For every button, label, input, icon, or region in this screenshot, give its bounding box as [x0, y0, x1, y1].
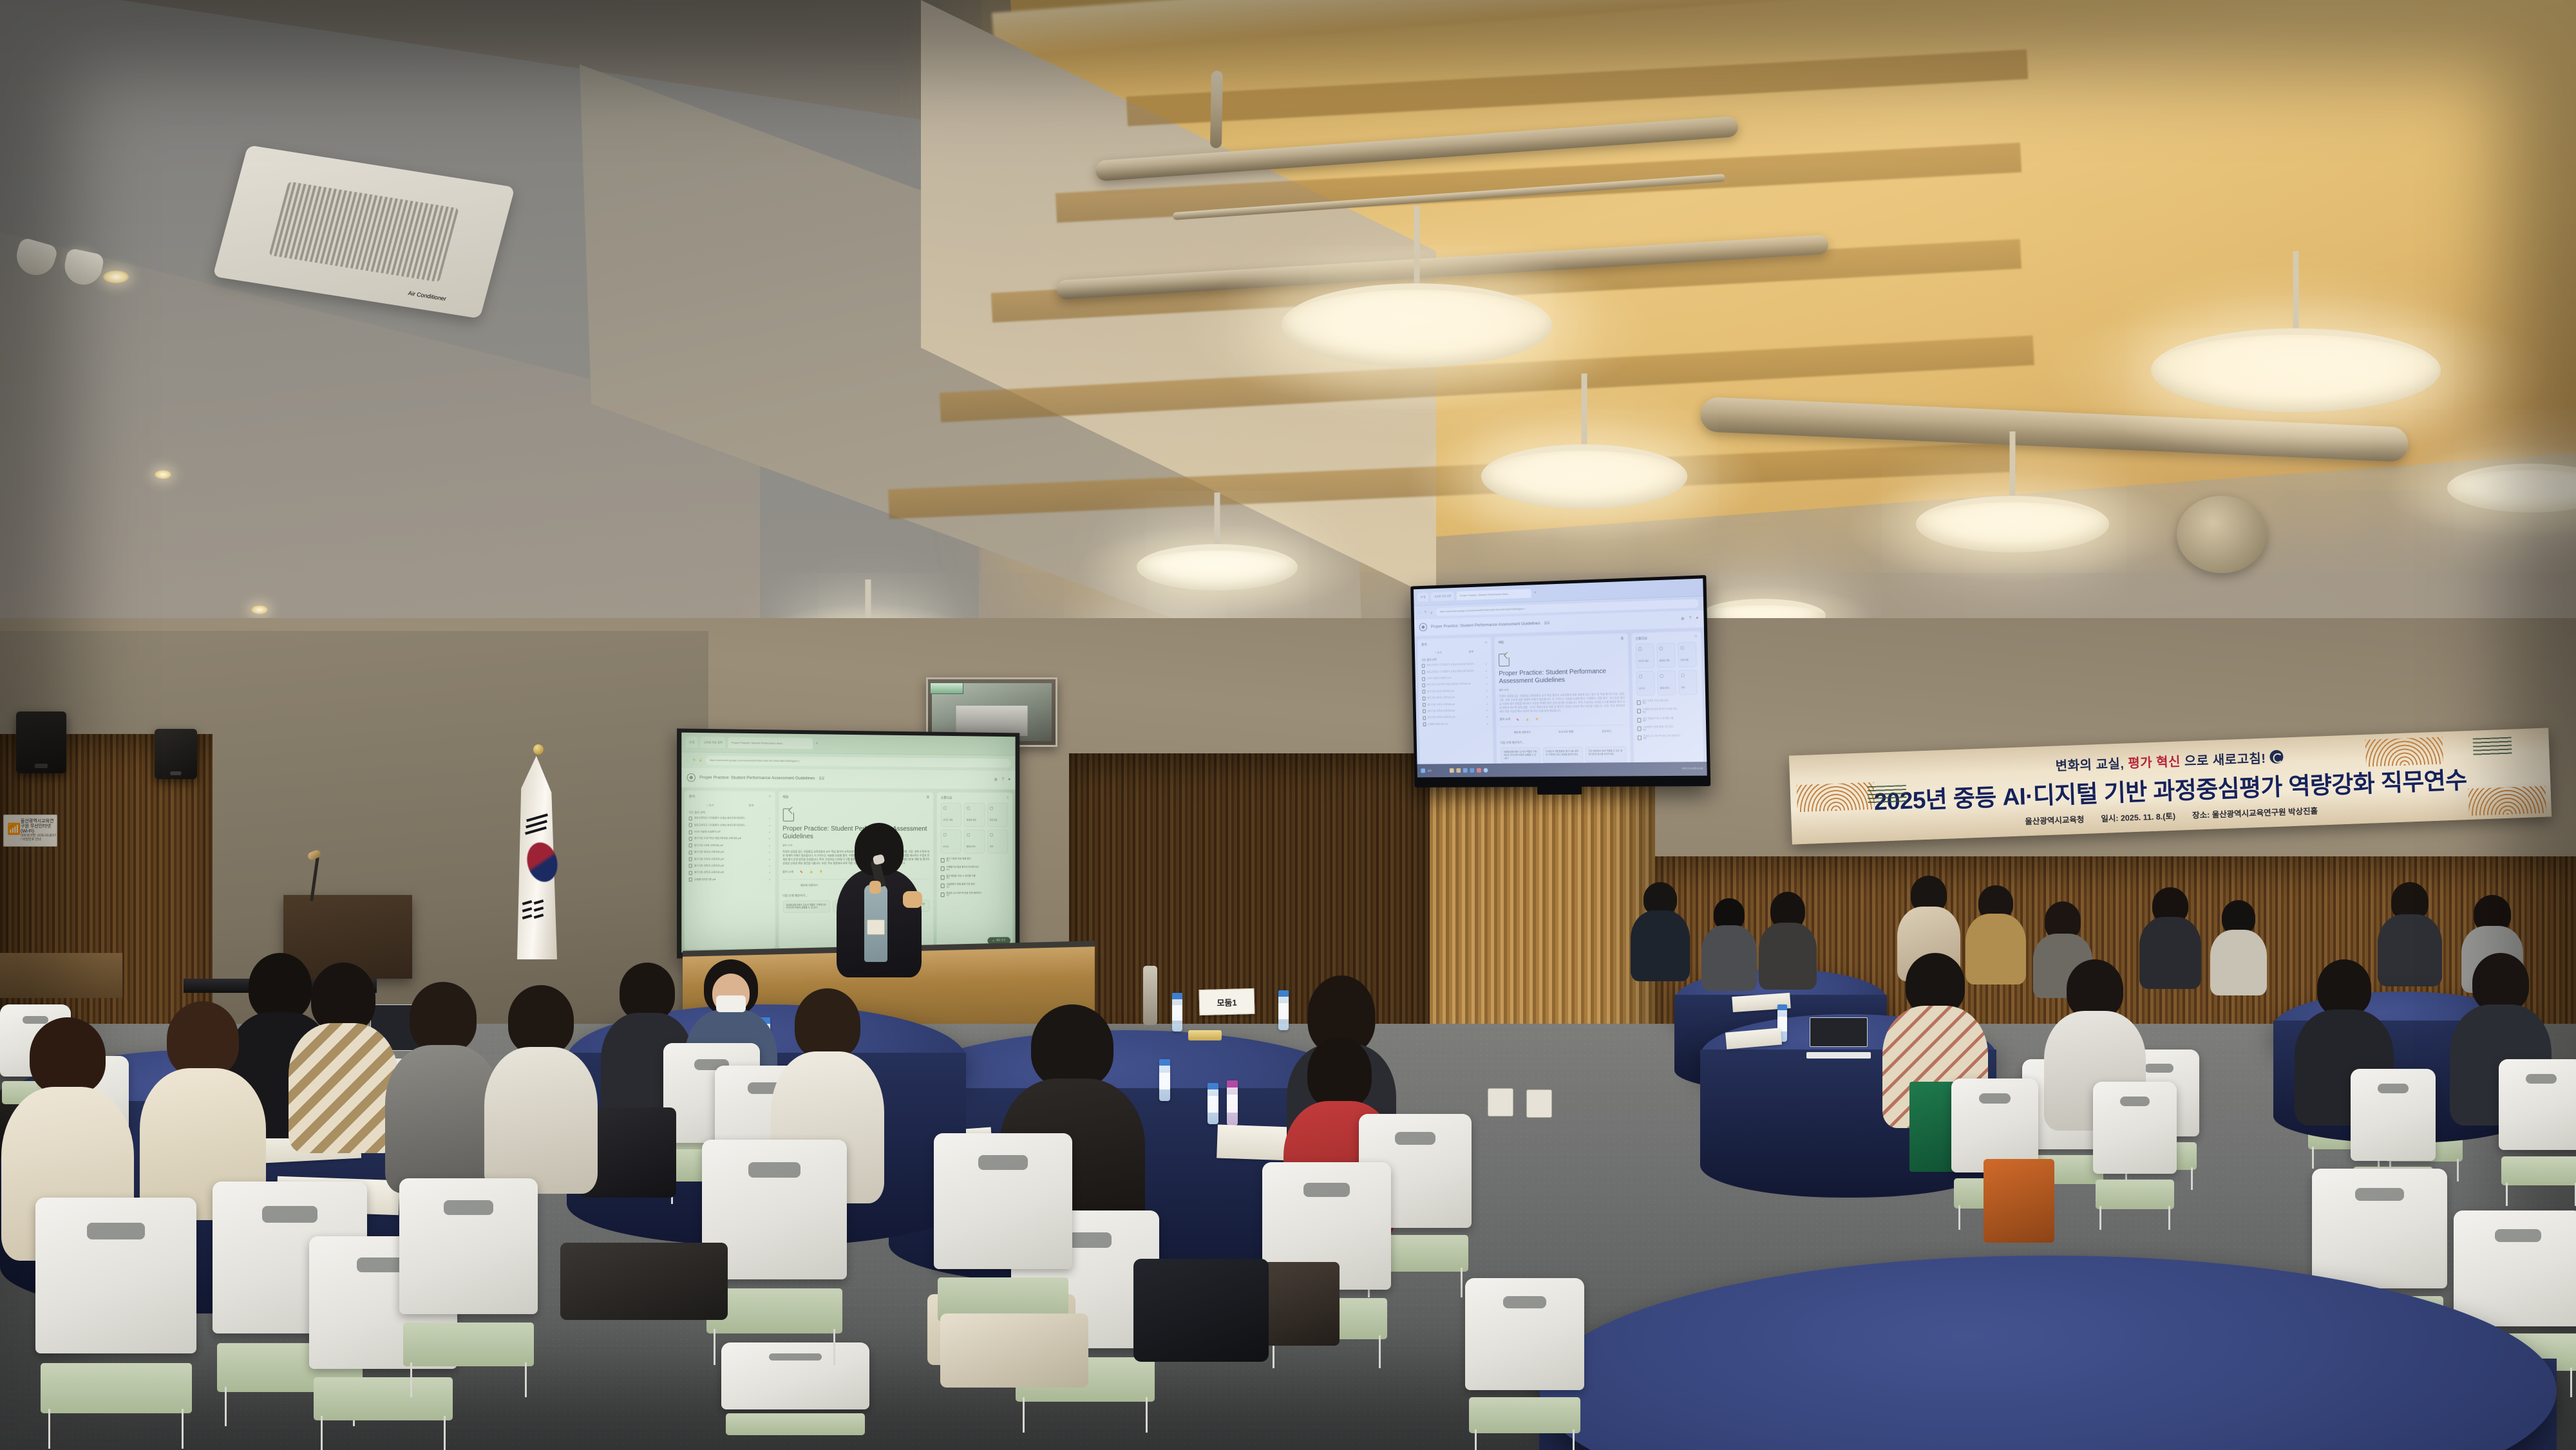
- floor-bag: [1984, 1159, 2054, 1243]
- browser-tab-active[interactable]: Proper Practice: Student Performance Ass…: [728, 737, 813, 749]
- source-list-item[interactable]: 수행평가운영기준.pdf✓: [1423, 722, 1489, 726]
- audio-overview-icon: ▢: [1638, 646, 1652, 652]
- pendant-lamp: [2447, 464, 2576, 513]
- sources-count-label[interactable]: 출처 10개: [1500, 718, 1510, 722]
- lock-icon: 🔒: [699, 758, 702, 762]
- studio-note-item[interactable]: 서술형평가 문항 출제 기준 정리메모: [941, 883, 1009, 889]
- pdf-file-icon: [1423, 697, 1426, 701]
- panel-collapse-icon[interactable]: □: [769, 795, 771, 799]
- booth-equipment: [956, 706, 1028, 736]
- account-avatar-icon[interactable]: ●: [1696, 616, 1698, 621]
- studio-tool-quiz[interactable]: ▢퀴즈: [987, 829, 1008, 853]
- notebooklm-icon[interactable]: [1484, 768, 1488, 773]
- bookmark-icon[interactable]: 🔖: [1517, 718, 1520, 721]
- source-list-item[interactable]: 2025-서술형-논술평가.pdf✓: [689, 830, 771, 834]
- thumbs-down-icon[interactable]: 👎: [819, 870, 822, 873]
- studio-note-meta: 메모: [1643, 720, 1674, 723]
- video-overview-icon: ▢: [1659, 646, 1672, 651]
- studio-tool-flashcards[interactable]: ▢플래시카드: [964, 829, 985, 854]
- banner-decoration: [1797, 782, 1875, 812]
- studio-tool-video-overview[interactable]: ▢동영상 개요: [964, 803, 985, 827]
- pendant-rod: [1215, 493, 1220, 544]
- laptop: [1810, 1017, 1868, 1059]
- source-checkbox[interactable]: ✓: [1486, 689, 1488, 692]
- suggestion-chip[interactable]: 과정중심평가에서 교사의 역할은 구체적으로 무엇이며 어떻게 실행할 수 있나…: [1501, 748, 1540, 764]
- chat-settings-icon[interactable]: ☰: [927, 795, 929, 800]
- studio-note-list: 평가 기준표 작성 방법 정리메모수행평가와 형성 평가의 차이점 비교메모중간…: [941, 857, 1009, 900]
- wifi-sign-title: 울산광역시교육연구원 무선인터넷(Wi-Fi): [21, 819, 57, 834]
- source-checkbox[interactable]: ✓: [769, 878, 771, 881]
- pdf-file-icon: [689, 816, 692, 820]
- downlight-icon: [103, 270, 129, 283]
- taskbar-search-label[interactable]: 검색: [1428, 769, 1432, 772]
- note-add-button[interactable]: 메모에 저장하기: [1514, 731, 1531, 735]
- chat-settings-icon[interactable]: ☰: [1621, 637, 1624, 641]
- studio-note-item[interactable]: 수행평가와 형성 평가의 차이점 비교메모: [1637, 708, 1699, 714]
- pdf-file-icon: [1423, 703, 1426, 707]
- banner-decoration: [2468, 786, 2546, 816]
- pdf-file-icon: [689, 830, 692, 834]
- studio-note-item[interactable]: 학생과 교사 피드백 운영 전략 제안하기메모: [941, 891, 1009, 897]
- mail-icon[interactable]: [1463, 768, 1468, 773]
- studio-panel: 스튜디오 □ ▢오디오 개요▢동영상 개요▢마인드맵▢보고서▢플래시카드▢퀴즈 …: [936, 792, 1013, 947]
- studio-note-title: 중간 채점표 작성 시 유의할 사항메모: [946, 874, 975, 880]
- wall-speaker: [155, 729, 197, 779]
- note-icon: [1637, 709, 1641, 713]
- note-icon: [1637, 726, 1641, 731]
- help-icon[interactable]: ?: [1002, 777, 1004, 782]
- chair: [2093, 1082, 2177, 1230]
- face-mask: [716, 995, 746, 1012]
- pendant-rod: [1210, 71, 1223, 148]
- sources-count-label[interactable]: 출처 10개: [782, 870, 793, 874]
- studio-panel: 스튜디오 □ ▢오디오 개요▢동영상 개요▢마인드맵▢보고서▢플래시카드▢퀴즈 …: [1631, 630, 1704, 773]
- source-name: 평가기준-영어과-교육자료.pdf: [1427, 695, 1484, 700]
- browser-tab[interactable]: 새 탭: [685, 737, 697, 748]
- source-list-item[interactable]: 평가기준-2과목-교육자료.pdf✓: [1423, 689, 1488, 694]
- banner-subtitle-highlight: 평가 혁신: [2128, 751, 2181, 771]
- tv-mount: [1537, 786, 1581, 795]
- studio-note-meta: 메모: [946, 886, 974, 889]
- studio-note-list: 평가 기준표 작성 방법 정리메모수행평가와 형성 평가의 차이점 비교메모중간…: [1636, 699, 1699, 744]
- tab-label: 교육청 자료 검색: [1434, 594, 1452, 599]
- studio-tool-audio-overview[interactable]: ▢오디오 개요: [941, 802, 961, 827]
- studio-note-item[interactable]: 평가 기준표 작성 방법 정리메모: [1636, 699, 1698, 705]
- attendee: [1700, 898, 1758, 988]
- source-name: 평가기준-과학과-교육자료.pdf: [694, 864, 767, 867]
- document-title: Proper Practice: Student Performance Ass…: [1499, 667, 1624, 686]
- note-icon: [941, 858, 945, 862]
- chair: [399, 1178, 538, 1397]
- seminar-room-photo: Air Conditioner: [0, 0, 2576, 1450]
- pdf-file-icon: [689, 824, 692, 827]
- add-source-button[interactable]: + 추가: [706, 804, 714, 807]
- snack-item: [1188, 1030, 1222, 1040]
- studio-tool-mindmap[interactable]: ▢마인드맵: [987, 803, 1008, 827]
- pendant-lamp: [1481, 444, 1687, 509]
- studio-note-item[interactable]: 중간 채점표 작성 시 유의할 사항메모: [941, 874, 1009, 880]
- notebook-title: Proper Practice: Student Performance Ass…: [1431, 621, 1540, 629]
- lamp-disc: [1282, 283, 1552, 367]
- source-list-item[interactable]: 평가기준-교과7학년-개정교육과정-교육자료.pdf✓: [1422, 682, 1488, 687]
- source-name: 평가기준-과학과-교육자료.pdf: [1428, 709, 1484, 713]
- suggestion-chip[interactable]: 디지털 도구를 활용한 평가 자료 제작의 구체적인 예시 방법을 알려주세요.: [1542, 747, 1583, 763]
- banner-subtitle-prefix: 변화의 교실,: [2055, 753, 2125, 774]
- sparkle-icon: ✦: [992, 939, 994, 942]
- folder-icon[interactable]: [1457, 768, 1461, 773]
- source-checkbox[interactable]: ✓: [769, 817, 771, 820]
- suggestions-header: 다음 단계 제안하기…: [1500, 740, 1625, 745]
- studio-title: 스튜디오: [1635, 636, 1647, 641]
- back-icon[interactable]: ←: [687, 758, 690, 762]
- file-explorer-icon[interactable]: [1450, 768, 1454, 773]
- tab-label: Proper Practice: Student Performance Ass…: [732, 741, 784, 745]
- studio-tool-report[interactable]: ▢보고서: [941, 829, 961, 854]
- chat-panel-header: 채팅 ☰: [1498, 637, 1624, 645]
- source-list-item[interactable]: 평가기준-교과7학년-개정교육과정-교육자료.pdf✓: [689, 837, 771, 841]
- source-name: 중등교육학교-디지털평가-선생님-참여교육자료정리…: [694, 816, 767, 820]
- thumbs-up-icon[interactable]: 👍: [1526, 718, 1529, 721]
- studio-tool-label: 보고서: [1639, 687, 1645, 690]
- attendee: [2209, 900, 2268, 994]
- source-checkbox[interactable]: ✓: [1486, 702, 1488, 706]
- ceiling: Air Conditioner: [0, 0, 2576, 721]
- pdf-file-icon: [1422, 683, 1425, 687]
- source-list-item[interactable]: 평가기준-과학과-교육자료.pdf✓: [689, 864, 771, 868]
- share-button[interactable]: 공유: [1544, 621, 1549, 626]
- downlight-icon: [155, 470, 171, 479]
- new-tab-button[interactable]: +: [816, 742, 819, 746]
- suggestion-chip-row: 과정중심평가에서 교사의 역할은 구체적으로 무엇이며 어떻게 실행할 수 있나…: [1501, 746, 1626, 764]
- source-name: 수행평가운영기준.pdf: [1428, 722, 1484, 726]
- source-list: 중등교육학교-디지털평가-선생님-참여교육자료정리…✓중등교육학교-디지털평가-…: [689, 816, 771, 885]
- studio-tool-label: 퀴즈: [1681, 686, 1685, 689]
- studio-note-title: 서술형평가 문항 출제 기준 정리메모: [1643, 726, 1673, 731]
- source-checkbox[interactable]: ✓: [1486, 695, 1488, 699]
- chat-title: 채팅: [1498, 640, 1504, 645]
- source-list-item[interactable]: 중등교육학교-디지털평가-선생님-참여교육자료정리…✓: [1422, 669, 1488, 674]
- bookmark-icon[interactable]: 🔖: [800, 870, 803, 873]
- power-outlet: [1488, 1088, 1513, 1116]
- tab-label: 새 탭: [689, 740, 695, 744]
- new-tab-button[interactable]: +: [1534, 591, 1537, 595]
- attendee: [1629, 882, 1690, 979]
- source-list-item[interactable]: 2025-서술형-논술평가.pdf✓: [1422, 675, 1488, 681]
- panel-collapse-icon[interactable]: □: [1695, 635, 1697, 639]
- studio-tool-video-overview[interactable]: ▢동영상 개요: [1656, 643, 1676, 668]
- url-input[interactable]: https://notebooklm.google.com/notebook/8…: [706, 755, 1011, 767]
- presenter-hand-mic: [869, 881, 881, 894]
- chat-title: 채팅: [782, 795, 788, 799]
- pdf-file-icon: [1422, 664, 1425, 668]
- pdf-file-icon: [1423, 722, 1426, 726]
- banner-org-label: 울산광역시교육청: [2025, 812, 2085, 826]
- share-button[interactable]: 공유: [819, 776, 824, 780]
- pendant-lamp: [1137, 544, 1298, 590]
- source-name: 2025-서술형-논술평가.pdf: [694, 831, 767, 834]
- banner-decoration-lines: [2473, 737, 2512, 757]
- studio-tool-mindmap[interactable]: ▢마인드맵: [1678, 642, 1697, 668]
- studio-tool-grid: ▢오디오 개요▢동영상 개요▢마인드맵▢보고서▢플래시카드▢퀴즈: [941, 802, 1009, 853]
- studio-note-meta: 메모: [1643, 728, 1673, 731]
- studio-note-title: 평가 기준표 작성 방법 정리메모: [946, 857, 971, 862]
- audio-overview-icon: ▢: [943, 805, 960, 810]
- note-document-icon: [782, 808, 793, 821]
- note-icon: [941, 875, 945, 880]
- banner-decoration-lines: [1868, 785, 1907, 804]
- pendant-lamp: [1282, 283, 1552, 367]
- ac-brand-label: Air Conditioner: [408, 290, 447, 302]
- studio-note-meta: 메모: [946, 869, 979, 871]
- source-name: 평가기준-2과목-교육자료.pdf: [694, 844, 767, 847]
- note-icon: [1638, 735, 1642, 740]
- studio-note-item[interactable]: 서술형평가 문항 출제 기준 정리메모: [1637, 725, 1699, 731]
- source-list-item[interactable]: 평가기준-영어과-교육자료.pdf✓: [1423, 695, 1488, 701]
- thumbs-up-icon[interactable]: 👍: [810, 870, 813, 873]
- studio-tool-report[interactable]: ▢보고서: [1636, 670, 1654, 695]
- studio-panel-header: 스튜디오 □: [941, 795, 1009, 800]
- studio-note-title: 서술형평가 문항 출제 기준 정리메모: [946, 883, 974, 889]
- floor-bag: [940, 1313, 1088, 1388]
- studio-note-item[interactable]: 평가 기준표 작성 방법 정리메모: [941, 857, 1009, 863]
- lamp-disc: [1481, 444, 1687, 509]
- chair: [2499, 1059, 2576, 1206]
- reload-icon[interactable]: ↻: [1425, 610, 1427, 614]
- studio-tool-label: 마인드맵: [990, 818, 997, 821]
- studio-tool-label: 오디오 개요: [943, 818, 953, 821]
- sources-title: 출처: [1421, 642, 1427, 646]
- suggestion-chip[interactable]: 학교 현장에서 바로 적용할 수 있는 채점기준표 예시를 보여주세요.: [1585, 746, 1626, 763]
- lamp-disc: [1137, 544, 1298, 590]
- source-name: 평가기준-교과7학년-개정교육과정-교육자료.pdf: [694, 837, 767, 840]
- banner-venue-label: 장소: 울산광역시교육연구원 박상진홀: [2192, 804, 2318, 820]
- source-list-item[interactable]: 중등교육학교-디지털평가-선생님-참여교육자료정리…✓: [689, 824, 771, 827]
- source-checkbox[interactable]: ✓: [1486, 715, 1488, 719]
- document-save-bar: 메모에 저장하기 보고서로 변환 공유하기: [1500, 725, 1625, 735]
- floor-bag: [560, 1243, 728, 1320]
- source-name: 수행평가운영기준.pdf: [694, 878, 767, 881]
- ac-grille: [269, 182, 459, 282]
- windows-taskbar: 검색 오후 2:14 2025-11-08: [1417, 762, 1707, 777]
- tab-label: Proper Practice: Student Performance Ass…: [1460, 592, 1510, 598]
- report-icon: ▢: [943, 833, 960, 837]
- note-icon: [941, 883, 945, 888]
- note-icon: [1636, 700, 1640, 704]
- exit-sign: [930, 683, 963, 694]
- source-checkbox[interactable]: ✓: [769, 864, 771, 867]
- wall-tv: 새 탭 교육청 자료 검색 Proper Practice: Student P…: [1410, 575, 1710, 787]
- pdf-file-icon: [689, 851, 692, 854]
- source-checkbox[interactable]: ✓: [769, 851, 771, 854]
- studio-tool-label: 동영상 개요: [967, 818, 976, 821]
- suggestion-chip[interactable]: 과정중심평가에서 교사의 역할은 구체적으로 무엇이며 어떻게 실행할 수 있나…: [782, 900, 830, 914]
- source-checkbox[interactable]: ✓: [1485, 663, 1487, 666]
- source-list-item[interactable]: 평가기준-수학과-교육자료.pdf✓: [689, 857, 771, 861]
- add-source-button[interactable]: + 추가: [1435, 651, 1441, 655]
- chat-panel-header: 채팅 ☰: [782, 795, 929, 800]
- notebooklm-app-tv: 새 탭 교육청 자료 검색 Proper Practice: Student P…: [1414, 578, 1707, 777]
- discover-sources-button[interactable]: 탐색: [749, 804, 754, 807]
- taskbar-clock[interactable]: 오후 2:14 2025-11-08: [1681, 767, 1703, 770]
- back-icon[interactable]: ←: [1418, 610, 1421, 614]
- browser-tab-active[interactable]: Proper Practice: Student Performance Ass…: [1457, 588, 1531, 601]
- source-name: 평가기준-영어과-교육자료.pdf: [694, 851, 767, 854]
- studio-tool-label: 오디오 개요: [1638, 659, 1649, 662]
- source-list-item[interactable]: 평가기준-영어과-교육자료.pdf✓: [689, 851, 771, 854]
- flashcards-icon: ▢: [1660, 673, 1673, 679]
- pdf-file-icon: [689, 871, 692, 875]
- chrome-icon[interactable]: [1477, 768, 1481, 773]
- source-name: 2025-서술형-논술평가.pdf: [1427, 676, 1484, 681]
- edge-icon[interactable]: [1470, 768, 1475, 773]
- studio-note-meta: 메모: [946, 878, 975, 880]
- quiz-icon: ▢: [1681, 673, 1694, 678]
- source-checkbox[interactable]: ✓: [1486, 709, 1488, 712]
- source-name: 중등교육학교-디지털평가-선생님-참여교육자료정리…: [1426, 669, 1483, 673]
- water-bottle: [1159, 1059, 1170, 1101]
- source-checkbox[interactable]: ✓: [769, 844, 771, 847]
- source-checkbox[interactable]: ✓: [1486, 683, 1488, 686]
- browser-tab[interactable]: 새 탭: [1417, 592, 1429, 602]
- studio-note-item[interactable]: 수행평가와 형성 평가의 차이점 비교메모: [941, 866, 1009, 872]
- downlight-icon: [251, 605, 268, 614]
- wifi-info-sign: 📶 울산광역시교육연구원 무선인터넷(Wi-Fi) 네트워크명: UOE-GUE…: [3, 814, 57, 847]
- note-add-button[interactable]: 메모에 저장하기: [800, 883, 818, 887]
- notebooklm-logo-icon: [1419, 623, 1428, 632]
- sources-panel: 출처 □ + 추가 탐색 모든 출처 선택 중등교육학교-디지털평가-선생님-참…: [684, 790, 775, 950]
- source-list-item[interactable]: 수행평가운영기준.pdf✓: [689, 878, 771, 882]
- sources-panel-header: 출처 □: [689, 794, 771, 799]
- select-all-sources-label[interactable]: 모든 출처 선택: [689, 811, 771, 815]
- studio-note-meta: 메모: [1643, 711, 1677, 714]
- water-bottle: [1227, 1080, 1238, 1125]
- pendant-rod: [1582, 373, 1587, 444]
- studio-panel-header: 스튜디오 □: [1635, 635, 1697, 641]
- studio-note-title: 수행평가와 형성 평가의 차이점 비교메모: [946, 866, 979, 872]
- tab-label: 새 탭: [1421, 595, 1426, 599]
- sources-panel-header: 출처 □: [1421, 641, 1487, 647]
- add-note-label: 메모 추가: [996, 939, 1005, 942]
- panel-collapse-icon[interactable]: □: [1007, 796, 1009, 800]
- share-button[interactable]: 공유하기: [1602, 730, 1611, 733]
- pendant-rod: [2010, 431, 2016, 496]
- flagpole-knob: [533, 744, 544, 755]
- source-list-item[interactable]: 평가기준-과학과-교육자료.pdf✓: [1423, 708, 1488, 713]
- document-meta: 출처 10개: [1499, 686, 1625, 692]
- studio-tool-label: 보고서: [943, 845, 949, 848]
- note-icon: [1637, 718, 1641, 722]
- water-bottle: [1172, 993, 1182, 1031]
- url-text: https://notebooklm.google.com/notebook/8…: [1440, 608, 1525, 613]
- source-list-item[interactable]: 평가기준-과학과-교육자료.pdf✓: [689, 871, 771, 875]
- source-name: 평가기준-수학과-교육자료.pdf: [1428, 702, 1484, 707]
- source-checkbox[interactable]: ✓: [769, 831, 771, 834]
- thumbs-down-icon[interactable]: 👎: [1535, 717, 1539, 720]
- pendant-rod: [1414, 206, 1420, 283]
- presenter: [831, 823, 927, 974]
- source-checkbox[interactable]: ✓: [1486, 722, 1488, 725]
- pdf-file-icon: [689, 843, 692, 847]
- source-checkbox[interactable]: ✓: [769, 837, 771, 840]
- mindmap-icon: ▢: [1680, 645, 1694, 650]
- select-all-sources-label[interactable]: 모든 출처 선택: [1422, 657, 1488, 663]
- studio-note-title: 평가 기준표 작성 방법 정리메모: [1642, 699, 1668, 705]
- source-list-item[interactable]: 평가기준-수학과-교육자료.pdf✓: [1423, 702, 1488, 707]
- studio-note-meta: 메모: [1643, 737, 1681, 740]
- header-icon-group: ⚙ ? ●: [994, 777, 1010, 782]
- source-list-item[interactable]: 중등교육학교-디지털평가-선생님-참여교육자료정리…✓: [1422, 662, 1488, 667]
- studio-note-item[interactable]: 학생과 교사 피드백 운영 전략 제안하기메모: [1637, 734, 1699, 740]
- studio-tool-quiz[interactable]: ▢퀴즈: [1678, 670, 1698, 695]
- source-name: 평가기준-수학과-교육자료.pdf: [694, 858, 767, 861]
- pendant-lamp: [1916, 496, 2109, 552]
- account-avatar-icon[interactable]: ●: [1008, 778, 1010, 782]
- attendee: [483, 985, 599, 1204]
- studio-note-title: 중간 채점표 작성 시 유의할 사항메모: [1643, 717, 1674, 722]
- source-list: 중등교육학교-디지털평가-선생님-참여교육자료정리…✓중등교육학교-디지털평가-…: [1422, 662, 1489, 729]
- convert-report-button[interactable]: 보고서로 변환: [1558, 730, 1573, 734]
- source-checkbox[interactable]: ✓: [769, 871, 771, 874]
- lamp-disc: [1916, 496, 2109, 552]
- panel-collapse-icon[interactable]: □: [1485, 641, 1487, 645]
- windows-start-icon[interactable]: [1421, 769, 1425, 773]
- browser-tab[interactable]: 교육청 자료 검색: [1431, 592, 1454, 602]
- duct-elbow: [2177, 496, 2267, 573]
- source-list-item[interactable]: 중등교육학교-디지털평가-선생님-참여교육자료정리…✓: [689, 816, 771, 820]
- help-icon[interactable]: ?: [1689, 617, 1692, 621]
- pdf-file-icon: [1422, 670, 1425, 674]
- studio-note-meta: 메모: [946, 860, 971, 863]
- notebooklm-logo-icon: [687, 773, 696, 782]
- video-overview-icon: ▢: [967, 806, 982, 811]
- source-list-item[interactable]: 평가기준-과학과-교육자료.pdf✓: [1423, 715, 1488, 720]
- source-checkbox[interactable]: ✓: [769, 824, 771, 827]
- source-list-item[interactable]: 평가기준-2과목-교육자료.pdf✓: [689, 843, 771, 847]
- reload-icon[interactable]: ↻: [693, 758, 696, 762]
- water-bottle: [1207, 1083, 1218, 1124]
- flashcards-icon: ▢: [967, 833, 982, 837]
- tv-screen: 새 탭 교육청 자료 검색 Proper Practice: Student P…: [1414, 578, 1707, 777]
- settings-gear-icon[interactable]: ⚙: [1681, 617, 1685, 621]
- settings-gear-icon[interactable]: ⚙: [994, 777, 998, 782]
- korean-flag: [512, 752, 562, 965]
- sources-title: 출처: [689, 794, 695, 798]
- source-name: 중등교육학교-디지털평가-선생님-참여교육자료정리…: [694, 824, 767, 827]
- source-checkbox[interactable]: ✓: [1486, 669, 1488, 672]
- quiz-icon: ▢: [990, 833, 1005, 837]
- lock-icon: 🔒: [1430, 610, 1433, 614]
- power-outlet: [1526, 1089, 1552, 1118]
- mindmap-icon: ▢: [990, 806, 1005, 811]
- backpack: [1133, 1259, 1269, 1362]
- source-checkbox[interactable]: ✓: [1486, 675, 1488, 679]
- source-name: 평가기준-교과7학년-개정교육과정-교육자료.pdf: [1427, 683, 1484, 687]
- report-icon: ▢: [1639, 673, 1653, 679]
- discover-sources-button[interactable]: 탐색: [1469, 650, 1473, 654]
- studio-tool-flashcards[interactable]: ▢플래시카드: [1657, 670, 1676, 695]
- source-checkbox[interactable]: ✓: [769, 858, 771, 861]
- side-counter: [0, 953, 122, 998]
- source-name: 중등교육학교-디지털평가-선생님-참여교육자료정리…: [1426, 663, 1483, 667]
- browser-tab[interactable]: 교육청 자료 검색: [701, 737, 726, 748]
- source-name: 평가기준-과학과-교육자료.pdf: [1428, 715, 1484, 719]
- studio-note-item[interactable]: 중간 채점표 작성 시 유의할 사항메모: [1637, 716, 1699, 722]
- header-icon-group: ⚙ ? ●: [1681, 616, 1698, 621]
- sources-actions: + 추가 탐색: [1421, 650, 1487, 655]
- presenter-hand-gesture: [903, 891, 922, 908]
- studio-tool-audio-overview[interactable]: ▢오디오 개요: [1636, 643, 1654, 668]
- pdf-file-icon: [1423, 716, 1426, 720]
